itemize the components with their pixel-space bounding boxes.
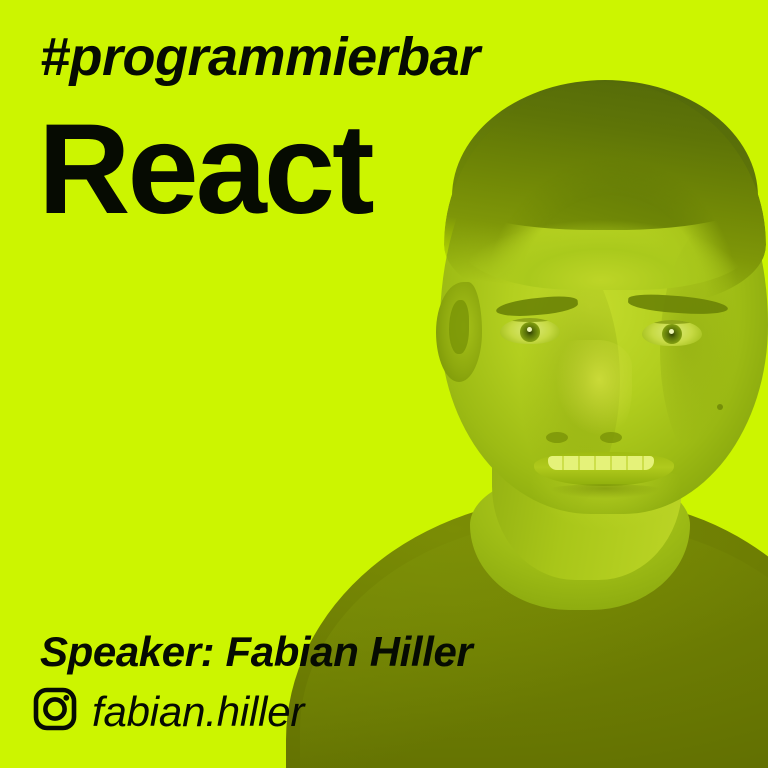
show-hashtag: #programmierbar <box>40 26 480 88</box>
ear-shape <box>436 282 482 382</box>
shirt-collar <box>470 470 690 610</box>
cheek-shading <box>450 230 620 530</box>
temple-shading <box>660 220 768 480</box>
teeth-shape <box>548 456 654 470</box>
hair-shape <box>444 82 766 308</box>
ear-inner-shape <box>449 300 469 354</box>
instagram-handle-text: fabian.hiller <box>92 688 304 736</box>
eyebrow-left <box>495 294 578 318</box>
hair-top-shape <box>452 80 758 230</box>
face-mole <box>717 404 723 410</box>
iris-right <box>662 324 682 344</box>
eye-highlight-left <box>527 327 532 332</box>
instagram-icon <box>32 686 78 737</box>
eye-right <box>642 320 702 346</box>
forehead-highlight <box>462 170 752 290</box>
nostril-left <box>546 432 568 443</box>
podcast-episode-cover: #programmierbar React Speaker: Fabian Hi… <box>0 0 768 768</box>
eye-highlight-right <box>669 329 674 334</box>
neck-shadow <box>492 402 682 488</box>
eyelid-right <box>642 320 702 324</box>
instagram-handle-row: fabian.hiller <box>32 686 304 737</box>
nostril-right <box>600 432 622 443</box>
nose-shape <box>546 340 632 450</box>
head-shape <box>440 84 768 514</box>
eyelid-left <box>500 318 560 322</box>
chin-highlight <box>516 468 696 558</box>
iris-left <box>520 322 540 342</box>
eyebrow-right <box>628 293 729 317</box>
speaker-label: Speaker: Fabian Hiller <box>40 628 472 676</box>
episode-title: React <box>38 106 372 234</box>
mouth-shape <box>534 452 674 486</box>
lip-shadow <box>532 484 678 506</box>
eye-left <box>500 318 560 344</box>
neck-shape <box>492 400 682 580</box>
